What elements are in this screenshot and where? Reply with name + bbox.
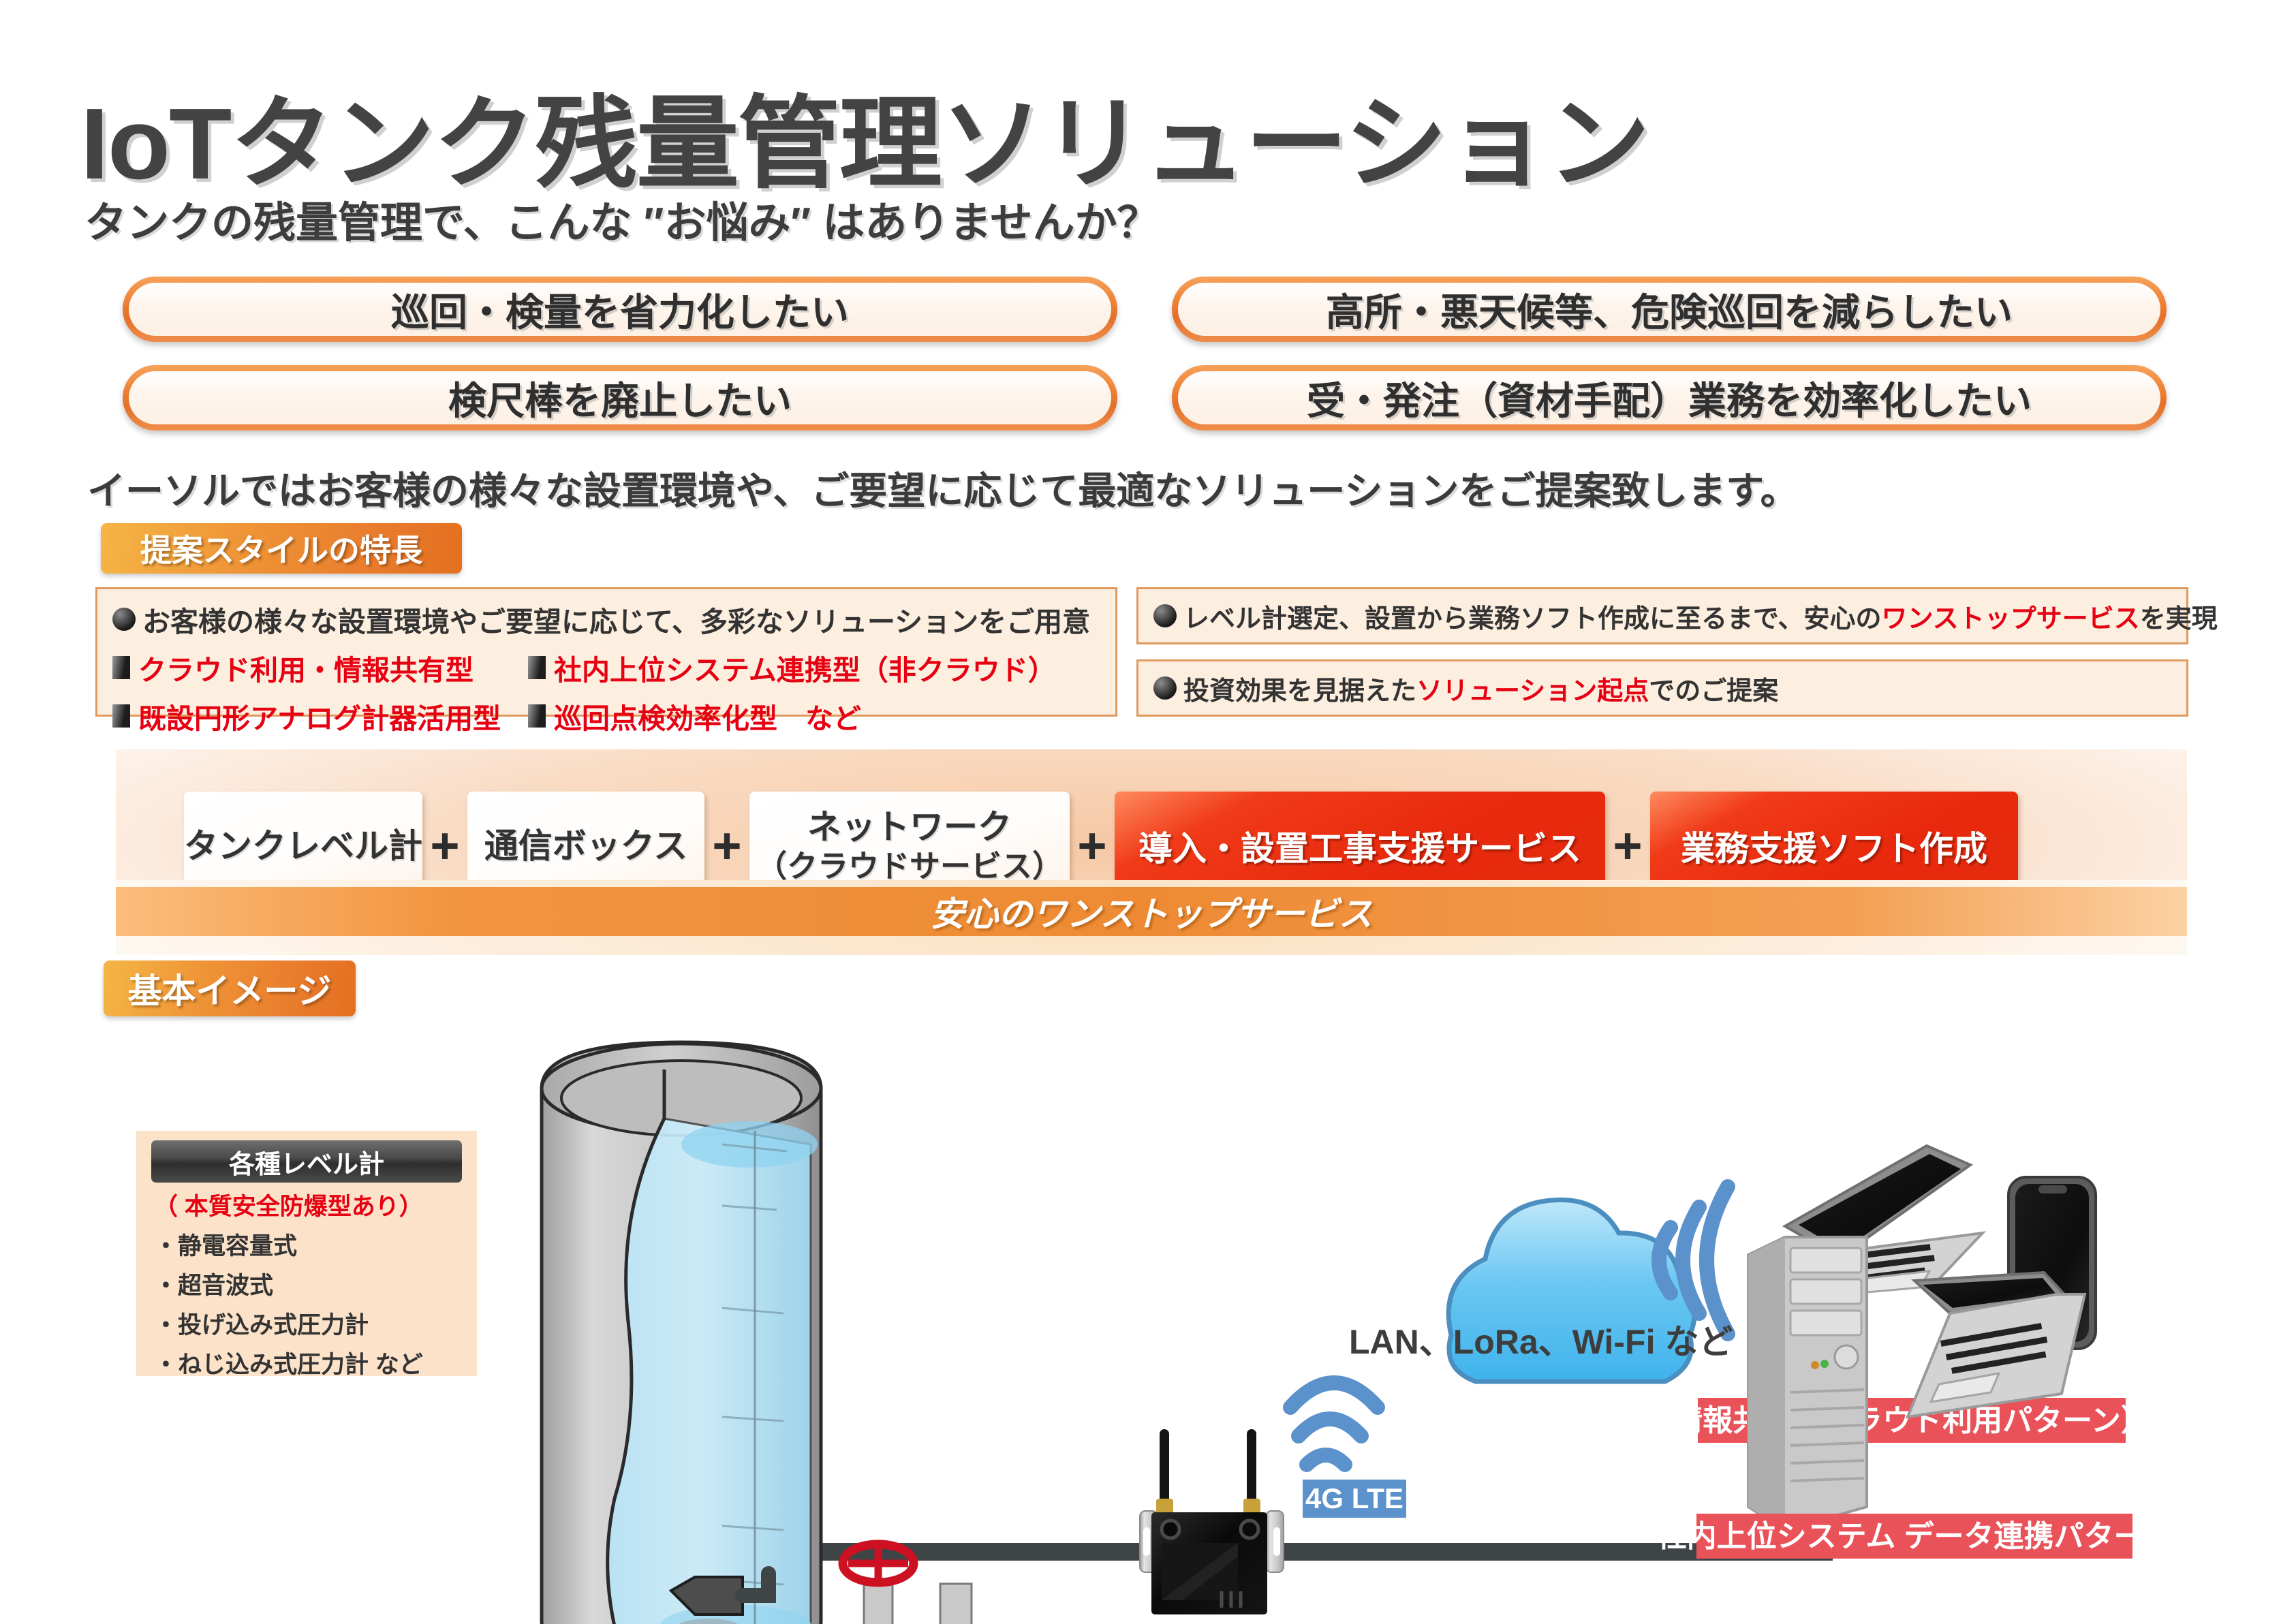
- feature-right-post: でのご提案: [1649, 670, 1778, 707]
- chain-item-sublabel: （クラウドサービス）: [756, 849, 1063, 884]
- pain-point-label: 受・発注（資材手配）業務を効率化したい: [1307, 371, 2032, 426]
- lead-text: イーソルではお客様の様々な設置環境や、ご要望に応じて最適なソリューションをご提案…: [87, 460, 1799, 516]
- pain-point-label: 高所・悪天候等、危険巡回を減らしたい: [1326, 282, 2013, 337]
- feature-right-row: 投資効果を見据えた ソリューション起点 でのご提案: [1153, 670, 1778, 707]
- server-tower-icon: [1748, 1237, 1867, 1530]
- one-stop-service-banner: 安心のワンストップサービス: [116, 887, 2187, 936]
- plus-separator-icon: +: [704, 826, 749, 866]
- feature-item: 既設円形アナログ計器活用型: [112, 696, 528, 736]
- feature-items-row-2: 既設円形アナログ計器活用型 巡回点検効率化型 など: [112, 696, 1100, 736]
- feature-right-post: を実現: [2140, 597, 2218, 635]
- pain-point-label: 検尺棒を廃止したい: [448, 371, 792, 426]
- feature-item-label: 社内上位システム連携型（非クラウド）: [554, 647, 1056, 688]
- page-title: IoTタンク残量管理ソリューション: [80, 61, 1649, 208]
- feature-item: 巡回点検効率化型 など: [528, 696, 861, 736]
- pain-point-pill-3[interactable]: 検尺棒を廃止したい: [123, 365, 1117, 431]
- wired-protocols-label: LAN、LoRa、Wi-Fi など: [1349, 1315, 1733, 1364]
- feature-item: クラウド利用・情報共有型: [112, 647, 528, 688]
- storage-tank: [542, 1042, 821, 1624]
- pain-point-label: 巡回・検量を省力化したい: [391, 282, 849, 337]
- square-bullet-icon: [112, 704, 130, 728]
- lte-signal-waves-icon: [1290, 1383, 1378, 1465]
- feature-item-label: 既設円形アナログ計器活用型: [138, 696, 501, 736]
- square-bullet-icon: [528, 656, 546, 679]
- antenna-icon: [1156, 1429, 1260, 1515]
- feature-box-right-1: レベル計選定、設置から業務ソフト作成に至るまで、安心の ワンストップサービス を…: [1136, 587, 2188, 644]
- square-bullet-icon: [112, 656, 130, 679]
- chain-item-label-wrap: ネットワーク （クラウドサービス）: [756, 808, 1063, 884]
- feature-headline: お客様の様々な設置環境やご要望に応じて、多彩なソリューションをご用意: [142, 599, 1090, 640]
- pill-inner: 高所・悪天候等、危険巡回を減らしたい: [1178, 283, 2160, 336]
- lte-badge-text: 4G LTE: [1305, 1482, 1403, 1514]
- pain-point-pill-1[interactable]: 巡回・検量を省力化したい: [123, 277, 1117, 342]
- plus-separator-icon: +: [1070, 826, 1115, 866]
- feature-right-accent: ソリューション起点: [1416, 670, 1649, 707]
- pill-inner: 検尺棒を廃止したい: [129, 371, 1111, 424]
- circle-bullet-icon: [112, 608, 136, 631]
- page-subtitle: タンクの残量管理で、こんな ″お悩み″ はありませんか？: [84, 188, 1160, 249]
- chain-item-label: タンクレベル計: [184, 827, 422, 865]
- feature-right-pre: レベル計選定、設置から業務ソフト作成に至るまで、安心の: [1183, 597, 1881, 635]
- feature-right-pre: 投資効果を見据えた: [1183, 670, 1416, 707]
- system-diagram: レベル計 4G LTE: [0, 940, 2296, 1624]
- feature-item-label: クラウド利用・情報共有型: [138, 647, 474, 688]
- plus-separator-icon: +: [1605, 826, 1650, 866]
- pain-point-pill-2[interactable]: 高所・悪天候等、危険巡回を減らしたい: [1172, 277, 2167, 342]
- feature-item: 社内上位システム連携型（非クラウド）: [528, 647, 1056, 688]
- feature-items-row-1: クラウド利用・情報共有型 社内上位システム連携型（非クラウド）: [112, 647, 1100, 688]
- circle-bullet-icon: [1153, 604, 1177, 627]
- pain-point-pill-4[interactable]: 受・発注（資材手配）業務を効率化したい: [1172, 365, 2167, 431]
- onprem-pattern-label: 社内上位システム データ連携パターン: [1657, 1514, 2173, 1559]
- one-stop-service-label: 安心のワンストップサービス: [931, 887, 1373, 936]
- chain-item-label: 通信ボックス: [484, 827, 688, 865]
- iot-gateway-device: [1140, 1429, 1284, 1614]
- tank-liquid: [608, 1119, 818, 1624]
- section-badge-label: 提案スタイルの特長: [140, 526, 422, 571]
- square-bullet-icon: [528, 704, 546, 728]
- plus-separator-icon: +: [422, 826, 467, 866]
- chain-item-label: ネットワーク: [807, 808, 1012, 846]
- feature-box-left: お客様の様々な設置環境やご要望に応じて、多彩なソリューションをご用意 クラウド利…: [95, 587, 1117, 717]
- circle-bullet-icon: [1153, 676, 1177, 700]
- chain-item-label: 導入・設置工事支援サービス: [1138, 822, 1581, 871]
- pill-inner: 受・発注（資材手配）業務を効率化したい: [1178, 371, 2160, 424]
- lte-badge: 4G LTE: [1303, 1480, 1406, 1518]
- feature-item-label: 巡回点検効率化型 など: [554, 696, 861, 736]
- section-badge-proposal-style: 提案スタイルの特長: [101, 523, 462, 574]
- feature-box-right-2: 投資効果を見据えた ソリューション起点 でのご提案: [1136, 659, 2188, 717]
- chain-item-label: 業務支援ソフト作成: [1681, 822, 1987, 871]
- feature-right-row: レベル計選定、設置から業務ソフト作成に至るまで、安心の ワンストップサービス を…: [1153, 597, 2218, 635]
- laptop-onprem-icon: [1908, 1272, 2085, 1417]
- pill-inner: 巡回・検量を省力化したい: [129, 283, 1111, 336]
- feature-right-accent: ワンストップサービス: [1881, 597, 2139, 635]
- onprem-pattern-text: 社内上位システム データ連携パターン: [1657, 1519, 2173, 1553]
- feature-headline-row: お客様の様々な設置環境やご要望に応じて、多彩なソリューションをご用意: [112, 599, 1100, 640]
